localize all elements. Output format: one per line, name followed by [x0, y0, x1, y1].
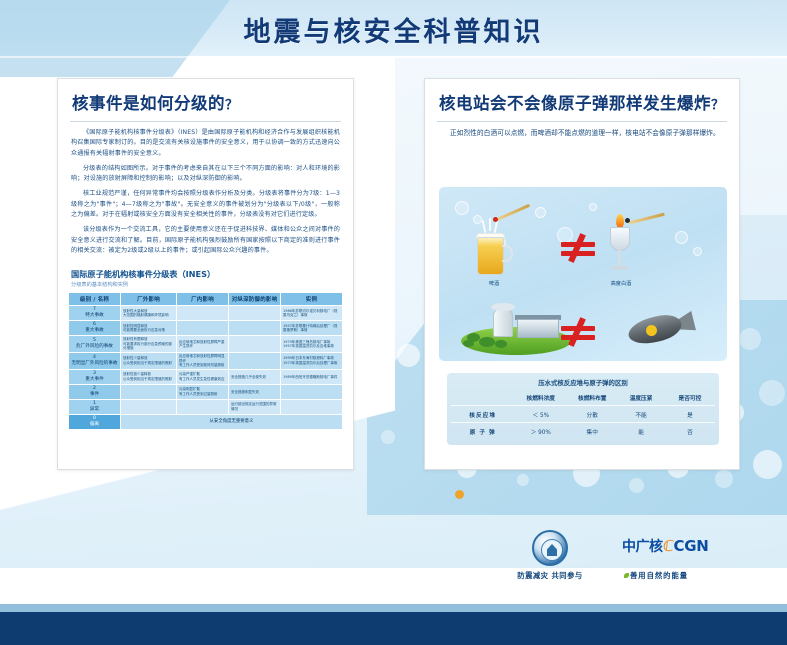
cmp-cell-compression: 能	[617, 423, 665, 440]
ines-col-level: 级别 / 名称	[69, 293, 121, 306]
comparison-table-body: 核反应堆＜ 5%分散不能是原 子 弹＞ 90%集中能否	[451, 406, 715, 440]
cgn-logo: 中广核ℂCGN	[622, 536, 709, 556]
table-row: 7特大事故放射性大量释放大范围的辐射健康和环境影响1986年苏联切尔诺贝利核电厂…	[69, 306, 343, 321]
left-panel-heading-question-mark: ？	[225, 98, 239, 113]
ines-cell-example: 1957年苏联基什特姆后处理厂（现属俄罗斯）事故	[281, 321, 343, 336]
right-title-divider	[437, 121, 727, 122]
seal-caption: 防震减灾 共同参与	[500, 571, 600, 581]
ines-cell-defence	[229, 353, 281, 370]
table-row: 6重大事故放射性明显释放可能需要全面执行应急对策1957年苏联基什特姆后处理厂（…	[69, 321, 343, 336]
ines-cell-example	[281, 399, 343, 414]
ines-cell-defence: 安全措施明显失效	[229, 384, 281, 399]
ines-table-header-row: 级别 / 名称 厂外影响 厂内影响 对纵深防御的影响 实例	[69, 293, 343, 306]
footer-logos: 防震减灾 共同参与 中广核ℂCGN 善用自然的能量	[500, 530, 750, 590]
comparison-table-title: 压水式核反应堆与原子弹的区别	[451, 378, 715, 390]
ines-cell-merged: 从安全角度无重要意义	[121, 414, 343, 429]
ines-cell-example: 1986年苏联切尔诺贝利核电厂（现属乌克兰）事故	[281, 306, 343, 321]
ines-cell-inside: 污染严重扩散有工作人员发生急性健康效应	[177, 369, 229, 384]
cmp-cell-name: 原 子 弹	[451, 423, 514, 440]
ines-cell-example: 1989年西班牙范德略斯核电厂事件	[281, 369, 343, 384]
ines-table-title: 国际原子能机构核事件分级表（INES）	[58, 261, 353, 281]
beer-mug-icon	[477, 231, 511, 275]
ines-cell-level: 5危厂外风险的事故	[69, 336, 121, 353]
cgn-logo-english: CGN	[674, 537, 709, 555]
ines-cell-outside: 放射性极少量释放公众受到相当于规定限值的照射	[121, 369, 177, 384]
ines-cell-defence: 运行超出规定运行范围的异常情况	[229, 399, 281, 414]
ines-cell-level: 6重大事故	[69, 321, 121, 336]
left-paragraph-1: 《国际原子能机构核事件分级表》（INES）是由国际原子能机构和经济合作与发展组织…	[58, 128, 353, 159]
ines-cell-outside: 放射性大量释放大范围的辐射健康和环境影响	[121, 306, 177, 321]
cgn-slogan: 善用自然的能量	[624, 571, 688, 581]
cmp-cell-concentration: ＜ 5%	[514, 406, 567, 423]
header-divider	[0, 56, 787, 58]
comparison-table: 核燃料浓度 核燃料布置 温度压紧 是否可控 核反应堆＜ 5%分散不能是原 子 弹…	[451, 390, 715, 439]
left-paragraph-3: 核工业规范严谨，任何异常事件均会按照分级表作分析及分类。分级表将事件分为7级：1…	[58, 189, 353, 220]
ines-cell-level: 2事件	[69, 384, 121, 399]
ines-cell-defence	[229, 321, 281, 336]
cmp-cell-controllable: 是	[665, 406, 715, 423]
ines-cell-outside	[121, 399, 177, 414]
not-equal-icon-bottom	[561, 319, 595, 345]
table-row: 核反应堆＜ 5%分散不能是	[451, 406, 715, 423]
liquor-caption: 高度白酒	[591, 280, 651, 287]
ines-cell-level: 7特大事故	[69, 306, 121, 321]
table-row: 0偏离从安全角度无重要意义	[69, 414, 343, 429]
cmp-col-layout: 核燃料布置	[567, 390, 617, 406]
cmp-cell-layout: 集中	[567, 423, 617, 440]
cmp-cell-name: 核反应堆	[451, 406, 514, 423]
right-panel-heading-question-mark: ？	[711, 98, 725, 113]
right-content-card: 核电站会不会像原子弹那样发生爆炸？ 正如烈性的白酒可以点燃，而啤酒却不能点燃的道…	[424, 78, 740, 470]
ines-cell-inside	[177, 321, 229, 336]
cgn-logo-mark-icon: ℂ	[661, 537, 675, 555]
cmp-cell-layout: 分散	[567, 406, 617, 423]
table-row: 原 子 弹＞ 90%集中能否	[451, 423, 715, 440]
ines-table: 级别 / 名称 厂外影响 厂内影响 对纵深防御的影响 实例 7特大事故放射性大量…	[68, 292, 343, 430]
accent-dot	[455, 490, 464, 499]
flame-icon	[616, 214, 624, 228]
ines-cell-level: 1异常	[69, 399, 121, 414]
ines-cell-defence	[229, 336, 281, 353]
right-panel-heading: 核电站会不会像原子弹那样发生爆炸？	[425, 79, 739, 121]
match-icon-beer	[496, 204, 530, 221]
poster-canvas: 地震与核安全科普知识 核事件是如何分级的？ 《国际原子能机构核事件分级表》（IN…	[0, 0, 787, 645]
ines-cell-inside: 污染明显扩散有工作人员受到过量照射	[177, 384, 229, 399]
ines-cell-level: 3重大事件	[69, 369, 121, 384]
cmp-cell-compression: 不能	[617, 406, 665, 423]
cmp-col-controllable: 是否可控	[665, 390, 715, 406]
cmp-col-compression: 温度压紧	[617, 390, 665, 406]
left-paragraph-2: 分级表的结构如图所示。对于事件的考虑来自其在以下三个不同方面的影响：对人和环境的…	[58, 164, 353, 185]
table-row: 2事件污染明显扩散有工作人员受到过量照射安全措施明显失效	[69, 384, 343, 399]
ines-cell-inside: 反应堆堆芯和放射性屏障明显损坏有工作人员受到致死剂量照射	[177, 353, 229, 370]
table-row: 5危厂外风险的事故放射性有限释放可能要求执行部分应急预案的部分措施反应堆堆芯和放…	[69, 336, 343, 353]
cmp-col-blank	[451, 390, 514, 406]
ines-col-inside: 厂内影响	[177, 293, 229, 306]
ines-table-body: 7特大事故放射性大量释放大范围的辐射健康和环境影响1986年苏联切尔诺贝利核电厂…	[69, 306, 343, 430]
match-icon-liquor	[629, 213, 665, 225]
cmp-col-concentration: 核燃料浓度	[514, 390, 567, 406]
comparison-table-panel: 压水式核反应堆与原子弹的区别 核燃料浓度 核燃料布置 温度压紧 是否可控 核反应…	[447, 373, 719, 445]
ines-col-example: 实例	[281, 293, 343, 306]
ines-cell-level: 0偏离	[69, 414, 121, 429]
cgn-logo-chinese: 中广核	[622, 539, 663, 555]
left-content-card: 核事件是如何分级的？ 《国际原子能机构核事件分级表》（INES）是由国际原子能机…	[57, 78, 354, 470]
ines-cell-example: 1979年美国三哩岛核电厂事故1957年英国温茨凯尔反应堆事故	[281, 336, 343, 353]
table-row: 1异常运行超出规定运行范围的异常情况	[69, 399, 343, 414]
not-equal-icon-top	[561, 235, 595, 261]
ines-cell-level: 4无明显厂外风险的事故	[69, 353, 121, 370]
ines-cell-example	[281, 384, 343, 399]
ines-cell-outside	[121, 384, 177, 399]
ines-cell-inside: 反应堆堆芯和放射性屏障严重产生损坏	[177, 336, 229, 353]
comparison-illustration: 啤酒 高度白酒	[439, 187, 727, 361]
comparison-header-row: 核燃料浓度 核燃料布置 温度压紧 是否可控	[451, 390, 715, 406]
nuclear-plant-icon	[461, 307, 571, 355]
page-title: 地震与核安全科普知识	[0, 10, 787, 49]
left-title-divider	[70, 121, 341, 122]
match-head-icon-beer	[493, 217, 498, 222]
ines-col-outside: 厂外影响	[121, 293, 177, 306]
atomic-bomb-icon	[624, 309, 696, 349]
right-panel-heading-text: 核电站会不会像原子弹那样发生爆炸	[439, 94, 711, 113]
footer-bar	[0, 612, 787, 645]
cmp-cell-concentration: ＞ 90%	[514, 423, 567, 440]
table-row: 4无明显厂外风险的事故放射性少量释放公众受到相当于规定限值的照射反应堆堆芯和放射…	[69, 353, 343, 370]
ines-cell-defence	[229, 306, 281, 321]
ines-cell-outside: 放射性有限释放可能要求执行部分应急预案的部分措施	[121, 336, 177, 353]
beer-caption: 啤酒	[464, 280, 524, 287]
left-panel-heading: 核事件是如何分级的？	[58, 79, 353, 121]
ines-table-subtitle: 分级表的基本结构和实例	[58, 281, 353, 292]
ines-cell-outside: 放射性少量释放公众受到相当于规定限值的照射	[121, 353, 177, 370]
ines-col-defence: 对纵深防御的影响	[229, 293, 281, 306]
ines-cell-inside	[177, 306, 229, 321]
earthquake-seal-icon	[532, 530, 568, 566]
table-row: 3重大事件放射性极少量释放公众受到相当于规定限值的照射污染严重扩散有工作人员发生…	[69, 369, 343, 384]
right-paragraph: 正如烈性的白酒可以点燃，而啤酒却不能点燃的道理一样，核电站不会像原子弹那样爆炸。	[425, 128, 739, 139]
leaf-icon	[624, 573, 629, 578]
left-paragraph-4: 该分级表作为一个交流工具，它的主要使用意义还在于促进科技界、媒体和公众之间对事件…	[58, 225, 353, 256]
ines-cell-outside: 放射性明显释放可能需要全面执行应急对策	[121, 321, 177, 336]
left-panel-heading-text: 核事件是如何分级的	[72, 94, 225, 113]
match-head-icon-liquor	[625, 218, 630, 223]
cgn-slogan-text: 善用自然的能量	[630, 571, 688, 580]
ines-cell-inside	[177, 399, 229, 414]
cmp-cell-controllable: 否	[665, 423, 715, 440]
ines-cell-defence: 安全措施几乎全部失效	[229, 369, 281, 384]
wine-glass-icon	[607, 223, 633, 275]
ines-cell-example: 1999年日本东海村核燃料厂事故1973年英国温茨凯尔后处理厂事故	[281, 353, 343, 370]
footer-accent-bar	[0, 604, 787, 612]
